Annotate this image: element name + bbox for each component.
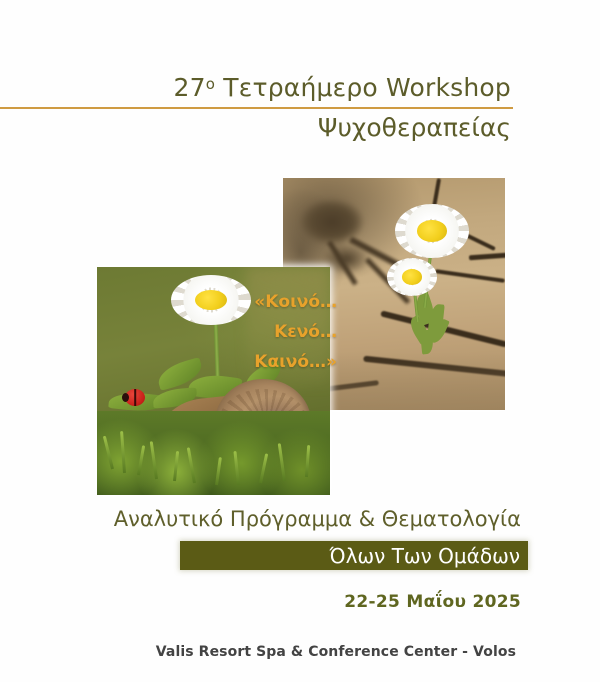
daisy-small [387,258,437,296]
event-dates: 22-25 Μαΐου 2025 [0,592,521,612]
title-ordinal-number: 27 [174,73,206,102]
page-title: 27ο Τετραήμερο Workshop [0,68,513,104]
daisy-large [395,204,469,258]
daisy-large-core [417,220,447,242]
header-divider-rule [0,107,513,109]
quote-line-3: Καινό…» [232,347,337,377]
daisy-small-core [402,269,422,284]
earth-crack-4 [435,269,505,283]
moss-ground [97,411,330,495]
earth-crack-3 [469,253,505,261]
poster-header: 27ο Τετραήμερο Workshop Ψυχοθεραπείας [0,68,513,145]
groups-banner: Όλων Των Ομάδων [180,541,528,570]
ladybug [125,389,145,406]
programme-title: Αναλυτικό Πρόγραμμα & Θεματολογία [0,505,521,533]
snail-daisy-core [195,290,227,310]
title-ordinal-suffix: ο [206,75,215,93]
poster-quote: «Κοινό… Κενό… Καινό…» [232,287,337,377]
quote-line-2: Κενό… [232,317,337,347]
ladybug-head [122,393,129,402]
sprout-leaf-5 [420,329,434,354]
event-venue: Valis Resort Spa & Conference Center - V… [0,644,516,660]
groups-banner-label: Όλων Των Ομάδων [329,545,520,567]
title-rest: Τετραήμερο Workshop [215,73,511,102]
quote-line-1: «Κοινό… [232,287,337,317]
page-subtitle: Ψυχοθεραπείας [0,111,513,145]
